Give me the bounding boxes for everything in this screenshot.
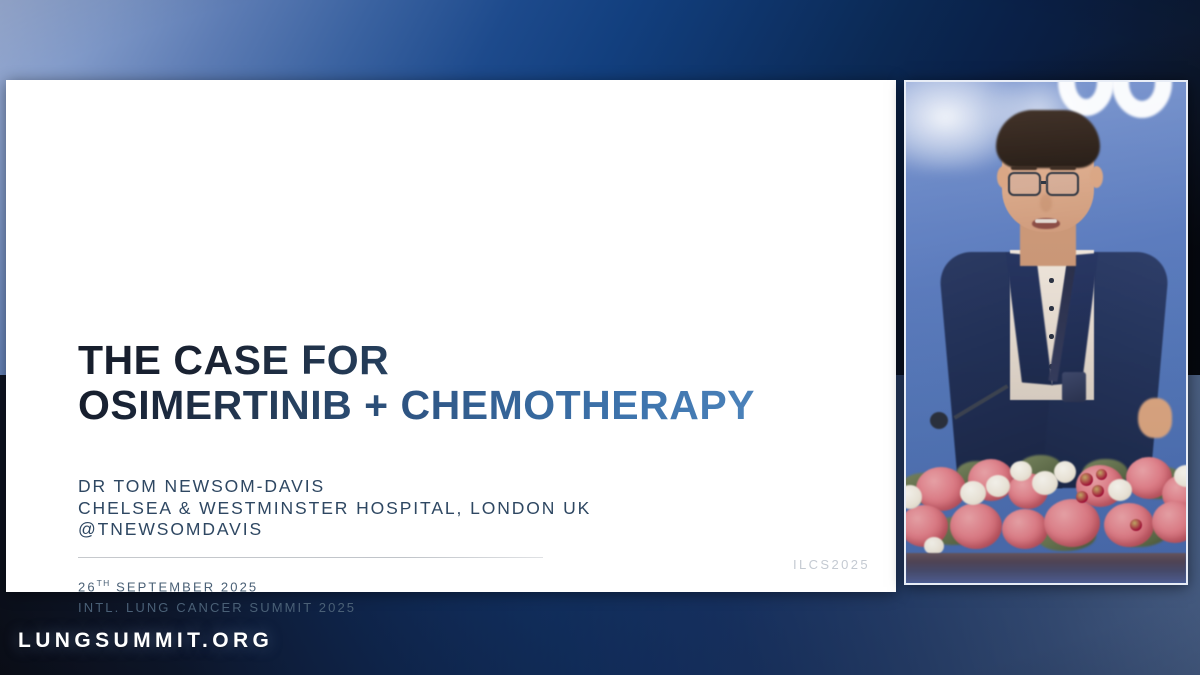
slide-title-line-1: THE CASE FOR <box>78 338 755 383</box>
presenter-social-handle: @TNEWSOMDAVIS <box>78 519 591 541</box>
slide-content: THE CASE FOR OSIMERTINIB + CHEMOTHERAPY … <box>6 80 896 592</box>
video-sheen-overlay <box>906 82 1186 583</box>
event-details: 26TH SEPTEMBER 2025 INTL. LUNG CANCER SU… <box>78 573 356 618</box>
speaker-video-feed[interactable] <box>904 80 1188 585</box>
event-date-number: 26 <box>78 579 97 594</box>
slide-divider-rule <box>78 557 543 558</box>
event-date: 26TH SEPTEMBER 2025 <box>78 573 356 597</box>
slide-watermark: ILCS2025 <box>793 557 870 572</box>
video-scene <box>906 82 1186 583</box>
presenter-affiliation: CHELSEA & WESTMINSTER HOSPITAL, LONDON U… <box>78 498 591 520</box>
slide-title-line-2: OSIMERTINIB + CHEMOTHERAPY <box>78 383 755 428</box>
event-date-rest: SEPTEMBER 2025 <box>110 579 258 594</box>
presenter-name: DR TOM NEWSOM-DAVIS <box>78 476 591 498</box>
brand-url: LUNGSUMMIT.ORG <box>18 629 273 653</box>
event-name: INTL. LUNG CANCER SUMMIT 2025 <box>78 597 356 618</box>
event-date-ordinal: TH <box>97 578 111 588</box>
slide-panel[interactable]: THE CASE FOR OSIMERTINIB + CHEMOTHERAPY … <box>6 80 896 592</box>
presenter-details: DR TOM NEWSOM-DAVIS CHELSEA & WESTMINSTE… <box>78 476 591 541</box>
slide-title: THE CASE FOR OSIMERTINIB + CHEMOTHERAPY <box>78 338 755 428</box>
